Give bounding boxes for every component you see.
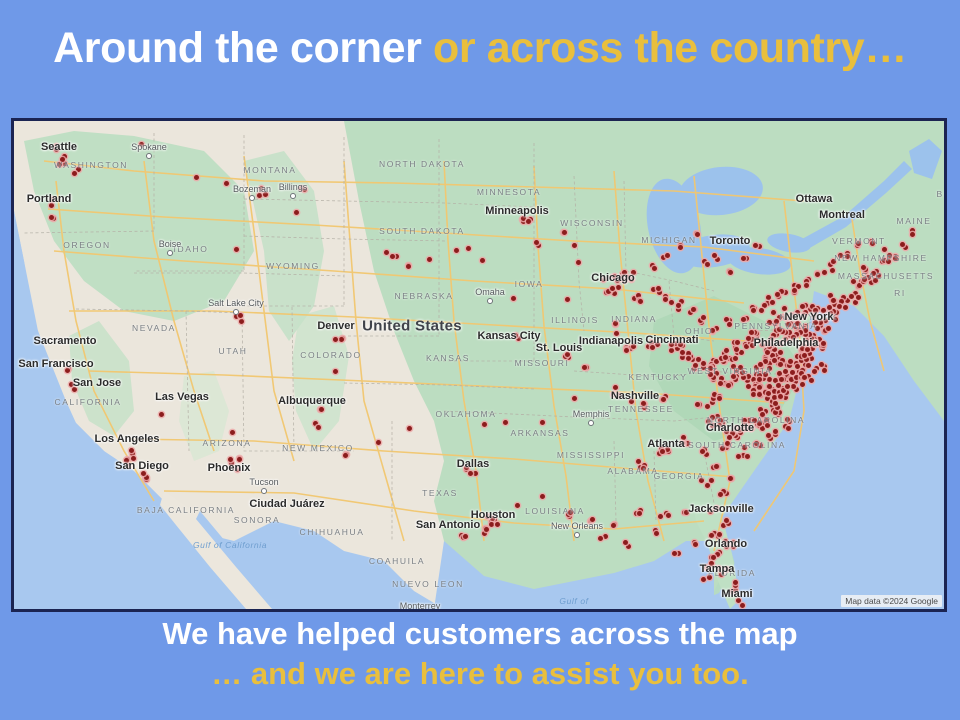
map-city-marker [167, 250, 173, 256]
map-container[interactable]: WASHINGTONMONTANAOREGONIDAHOWYOMINGNEVAD… [11, 118, 947, 612]
map-city-marker [487, 298, 493, 304]
slide-root: Around the corner or across the country… [0, 0, 960, 720]
map-city-marker [249, 195, 255, 201]
footer-line-1: We have helped customers across the map [0, 614, 960, 654]
map-attribution: Map data ©2024 Google [841, 595, 942, 607]
map-vector-layer [14, 121, 944, 609]
footer-text: We have helped customers across the map … [0, 614, 960, 695]
footer-line-2: … and we are here to assist you too. [0, 654, 960, 695]
map-city-marker [233, 309, 239, 315]
map-basemap [14, 121, 944, 609]
map-city-marker [574, 532, 580, 538]
map-city-marker [588, 420, 594, 426]
page-title: Around the corner or across the country… [0, 26, 960, 71]
headline-part-gold: or across the country… [433, 24, 907, 72]
map-city-marker [261, 488, 267, 494]
headline-part-white: Around the corner [53, 24, 433, 72]
map-city-marker [290, 193, 296, 199]
map-city-marker [146, 153, 152, 159]
